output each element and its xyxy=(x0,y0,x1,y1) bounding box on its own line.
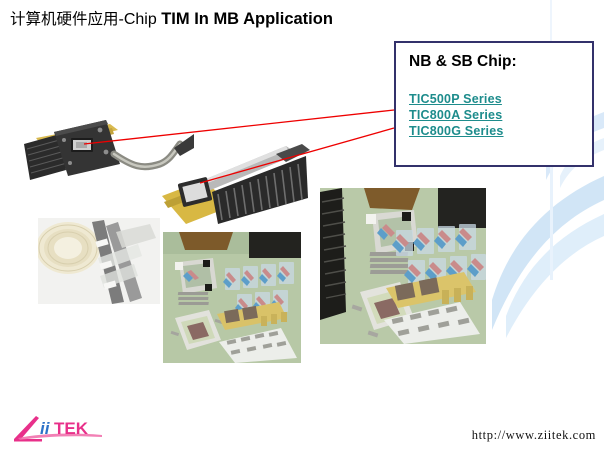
series-link-tic800g[interactable]: TIC800G Series xyxy=(409,123,589,139)
logo-text-ii: ii xyxy=(40,419,51,438)
callout-heading: NB & SB Chip: xyxy=(409,53,517,71)
callout-box-nb-sb-chip: NB & SB Chip: TIC500P Series TIC800A Ser… xyxy=(394,41,594,167)
page-title-separator: -Chip xyxy=(119,11,162,28)
page-title: 计算机硬件应用-Chip TIM In MB Application xyxy=(10,7,333,29)
ziitek-logo[interactable]: ii TEK xyxy=(12,412,104,444)
footer-url[interactable]: http://www.ziitek.com xyxy=(472,428,596,443)
photo-chip-pads-center xyxy=(163,232,301,363)
series-link-tic800a[interactable]: TIC800A Series xyxy=(409,107,589,123)
chip-pads-center-graphic xyxy=(163,232,301,363)
page-title-chinese: 计算机硬件应用 xyxy=(10,10,119,28)
thermal-tape-graphic xyxy=(38,218,160,304)
callout-series-list: TIC500P Series TIC800A Series TIC800G Se… xyxy=(409,91,589,139)
sb-heatsink-graphic xyxy=(156,136,312,228)
chip-pads-right-graphic xyxy=(320,188,486,344)
photo-chip-pads-right xyxy=(320,188,486,344)
ziitek-logo-graphic: ii TEK xyxy=(12,412,104,444)
photo-sb-finned-heatsink xyxy=(156,136,312,228)
logo-text-tek: TEK xyxy=(54,419,89,438)
series-link-tic500p[interactable]: TIC500P Series xyxy=(409,91,589,107)
slide-canvas: 计算机硬件应用-Chip TIM In MB Application xyxy=(0,0,604,456)
page-title-bold: TIM In MB Application xyxy=(161,10,333,28)
photo-thermal-tape-roll xyxy=(38,218,160,304)
